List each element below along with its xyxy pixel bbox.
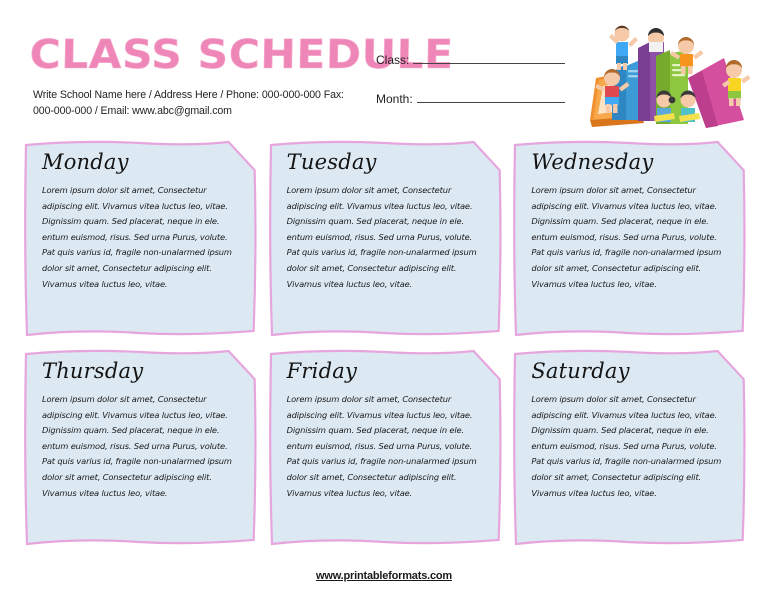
header-fields: Class: Month: bbox=[376, 52, 565, 130]
class-input-line[interactable] bbox=[413, 52, 565, 64]
schedule-grid: Monday Lorem ipsum dolor sit amet, Conse… bbox=[22, 138, 748, 550]
day-title: Saturday bbox=[531, 359, 732, 383]
day-title: Thursday bbox=[42, 359, 243, 383]
day-notes[interactable]: Lorem ipsum dolor sit amet, Consectetur … bbox=[42, 392, 243, 501]
day-card-tuesday[interactable]: Tuesday Lorem ipsum dolor sit amet, Cons… bbox=[267, 138, 504, 341]
day-title: Friday bbox=[287, 359, 488, 383]
page-header: CLASS SCHEDULE Write School Name here / … bbox=[0, 0, 768, 136]
card-content: Thursday Lorem ipsum dolor sit amet, Con… bbox=[42, 359, 243, 540]
month-field-label: Month: bbox=[376, 92, 413, 106]
day-card-friday[interactable]: Friday Lorem ipsum dolor sit amet, Conse… bbox=[267, 347, 504, 550]
day-notes[interactable]: Lorem ipsum dolor sit amet, Consectetur … bbox=[42, 183, 243, 292]
day-notes[interactable]: Lorem ipsum dolor sit amet, Consectetur … bbox=[531, 392, 732, 501]
day-title: Wednesday bbox=[531, 150, 732, 174]
day-card-monday[interactable]: Monday Lorem ipsum dolor sit amet, Conse… bbox=[22, 138, 259, 341]
day-title: Tuesday bbox=[287, 150, 488, 174]
page-footer: www.printableformats.com bbox=[0, 566, 768, 584]
class-field-row: Class: bbox=[376, 52, 565, 67]
school-info-text: Write School Name here / Address Here / … bbox=[33, 88, 345, 119]
class-field-label: Class: bbox=[376, 53, 409, 67]
day-notes[interactable]: Lorem ipsum dolor sit amet, Consectetur … bbox=[287, 392, 488, 501]
day-notes[interactable]: Lorem ipsum dolor sit amet, Consectetur … bbox=[531, 183, 732, 292]
month-field-row: Month: bbox=[376, 91, 565, 106]
card-content: Saturday Lorem ipsum dolor sit amet, Con… bbox=[531, 359, 732, 540]
day-card-wednesday[interactable]: Wednesday Lorem ipsum dolor sit amet, Co… bbox=[511, 138, 748, 341]
day-title: Monday bbox=[42, 150, 243, 174]
card-content: Monday Lorem ipsum dolor sit amet, Conse… bbox=[42, 150, 243, 331]
day-card-thursday[interactable]: Thursday Lorem ipsum dolor sit amet, Con… bbox=[22, 347, 259, 550]
footer-website-link[interactable]: www.printableformats.com bbox=[316, 570, 452, 582]
card-content: Wednesday Lorem ipsum dolor sit amet, Co… bbox=[531, 150, 732, 331]
card-content: Tuesday Lorem ipsum dolor sit amet, Cons… bbox=[287, 150, 488, 331]
kid-peek bbox=[648, 28, 664, 52]
day-notes[interactable]: Lorem ipsum dolor sit amet, Consectetur … bbox=[287, 183, 488, 292]
month-input-line[interactable] bbox=[417, 91, 565, 103]
day-card-saturday[interactable]: Saturday Lorem ipsum dolor sit amet, Con… bbox=[511, 347, 748, 550]
card-content: Friday Lorem ipsum dolor sit amet, Conse… bbox=[287, 359, 488, 540]
class-schedule-page: CLASS SCHEDULE Write School Name here / … bbox=[0, 0, 768, 591]
kids-playing-on-books-illustration bbox=[576, 16, 762, 136]
